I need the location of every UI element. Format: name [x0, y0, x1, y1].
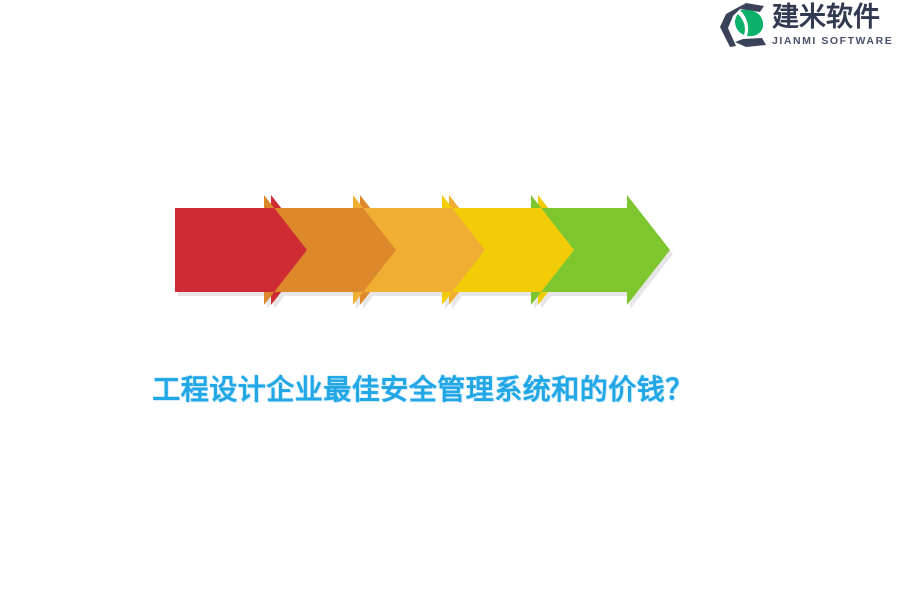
process-arrow-chain: [0, 186, 900, 316]
jianmi-leaf-logo-icon: [716, 2, 768, 48]
logo-company-name-en: JIANMI SOFTWARE: [772, 36, 893, 47]
logo-wordmark: 建米软件 JIANMI SOFTWARE: [772, 4, 893, 47]
brand-logo: 建米软件 JIANMI SOFTWARE: [716, 0, 896, 50]
logo-company-name-cn: 建米软件: [772, 4, 893, 31]
page-headline: 工程设计企业最佳安全管理系统和的价钱？: [0, 368, 846, 408]
